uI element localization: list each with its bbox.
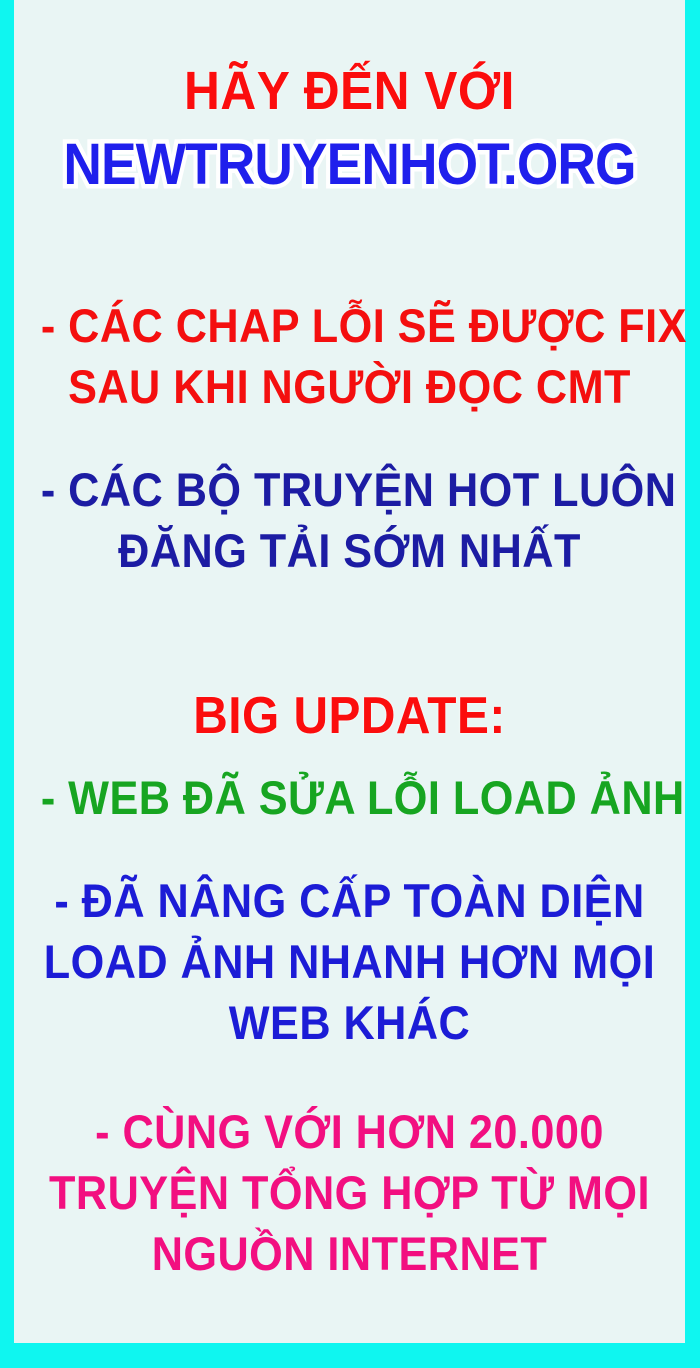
update-item-pink-line-3: NGUỒN INTERNET — [41, 1230, 658, 1277]
promo-banner: HÃY ĐẾN VỚI NEWTRUYENHOT.ORG - CÁC CHAP … — [0, 0, 700, 1368]
update-item-blue-line-2: LOAD ẢNH NHANH HƠN MỌI — [41, 938, 658, 985]
update-item-pink-line-1: - CÙNG VỚI HƠN 20.000 — [41, 1108, 658, 1155]
update-item-pink-line-2: TRUYỆN TỔNG HỢP TỪ MỌI — [41, 1169, 658, 1216]
banner-content-panel: HÃY ĐẾN VỚI NEWTRUYENHOT.ORG - CÁC CHAP … — [14, 0, 685, 1343]
update-item-blue-line-3: WEB KHÁC — [41, 999, 658, 1046]
site-url-headline[interactable]: NEWTRUYENHOT.ORG — [41, 136, 658, 194]
notice-navy-line-2: ĐĂNG TẢI SỚM NHẤT — [41, 527, 658, 574]
headline-primary: HÃY ĐẾN VỚI — [41, 64, 658, 118]
big-update-heading: BIG UPDATE: — [41, 690, 658, 742]
notice-navy-line-1: - CÁC BỘ TRUYỆN HOT LUÔN — [41, 466, 658, 513]
update-item-green-line-1: - WEB ĐÃ SỬA LỖI LOAD ẢNH — [41, 774, 658, 821]
update-item-blue-line-1: - ĐÃ NÂNG CẤP TOÀN DIỆN — [41, 877, 658, 924]
notice-red-line-1: - CÁC CHAP LỖI SẼ ĐƯỢC FIX — [41, 302, 658, 349]
notice-red-line-2: SAU KHI NGƯỜI ĐỌC CMT — [41, 363, 658, 410]
